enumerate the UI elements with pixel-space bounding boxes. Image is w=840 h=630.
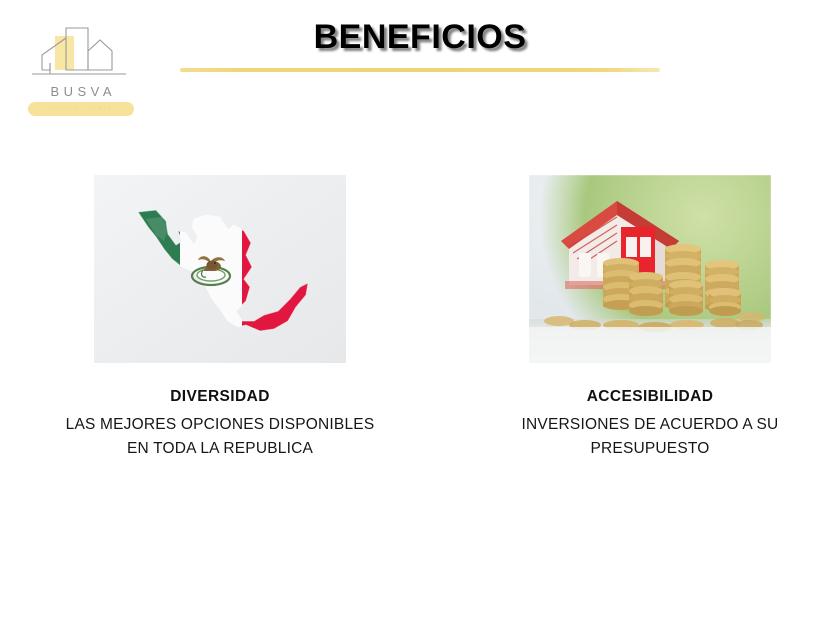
card-body-line: INVERSIONES DE ACUERDO A SU — [455, 413, 840, 437]
card-body-line: EN TODA LA REPUBLICA — [18, 437, 422, 461]
card-heading-accesibilidad: ACCESIBILIDAD — [455, 388, 840, 406]
benefit-card-accesibilidad: ACCESIBILIDAD INVERSIONES DE ACUERDO A S… — [455, 175, 840, 461]
page-title: BENEFICIOS — [0, 18, 840, 57]
title-underline-rule — [180, 68, 660, 72]
logo-name: BUSVA — [22, 84, 140, 99]
benefit-card-diversidad: DIVERSIDAD LAS MEJORES OPCIONES DISPONIB… — [18, 175, 422, 461]
card-heading-diversidad: DIVERSIDAD — [18, 388, 422, 406]
card-body-line: LAS MEJORES OPCIONES DISPONIBLES — [18, 413, 422, 437]
card-body-line: PRESUPUESTO — [455, 437, 840, 461]
house-and-coins-image — [529, 175, 771, 363]
card-body-diversidad: LAS MEJORES OPCIONES DISPONIBLES EN TODA… — [18, 413, 422, 461]
card-body-accesibilidad: INVERSIONES DE ACUERDO A SU PRESUPUESTO — [455, 413, 840, 461]
logo-tagline-plate: INMOBILIARIA — [28, 102, 134, 116]
mexico-map-flag-image — [94, 175, 346, 363]
logo-tagline: INMOBILIARIA — [28, 102, 134, 116]
